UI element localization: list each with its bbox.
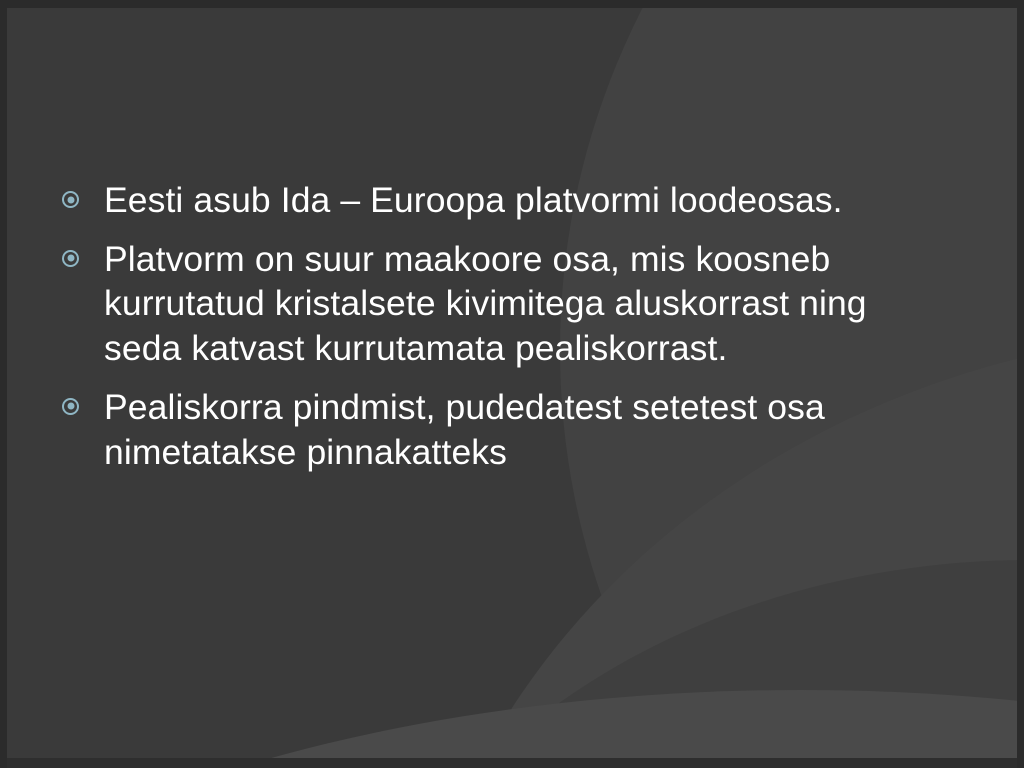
bullet-marker-1 [62,178,104,213]
ring-bullet-icon [62,250,79,267]
ring-bullet-icon [62,191,79,208]
bullet-text-2: Platvorm on suur maakoore osa, mis koosn… [104,237,892,371]
bullet-marker-2 [62,237,104,272]
slide-body-text: Eesti asub Ida – Euroopa platvormi loode… [62,178,892,488]
list-item: Eesti asub Ida – Euroopa platvormi loode… [62,178,892,223]
list-item: Platvorm on suur maakoore osa, mis koosn… [62,237,892,371]
presentation-slide: Eesti asub Ida – Euroopa platvormi loode… [0,0,1024,768]
slide-border-right [1017,0,1024,768]
slide-border-bottom [0,758,1024,768]
list-item: Pealiskorra pindmist, pudedatest setetes… [62,385,892,474]
slide-border-top [0,0,1024,8]
bullet-marker-3 [62,385,104,420]
ring-bullet-icon [62,398,79,415]
bullet-text-1: Eesti asub Ida – Euroopa platvormi loode… [104,178,892,223]
bullet-text-3: Pealiskorra pindmist, pudedatest setetes… [104,385,892,474]
slide-border-left [0,0,7,768]
